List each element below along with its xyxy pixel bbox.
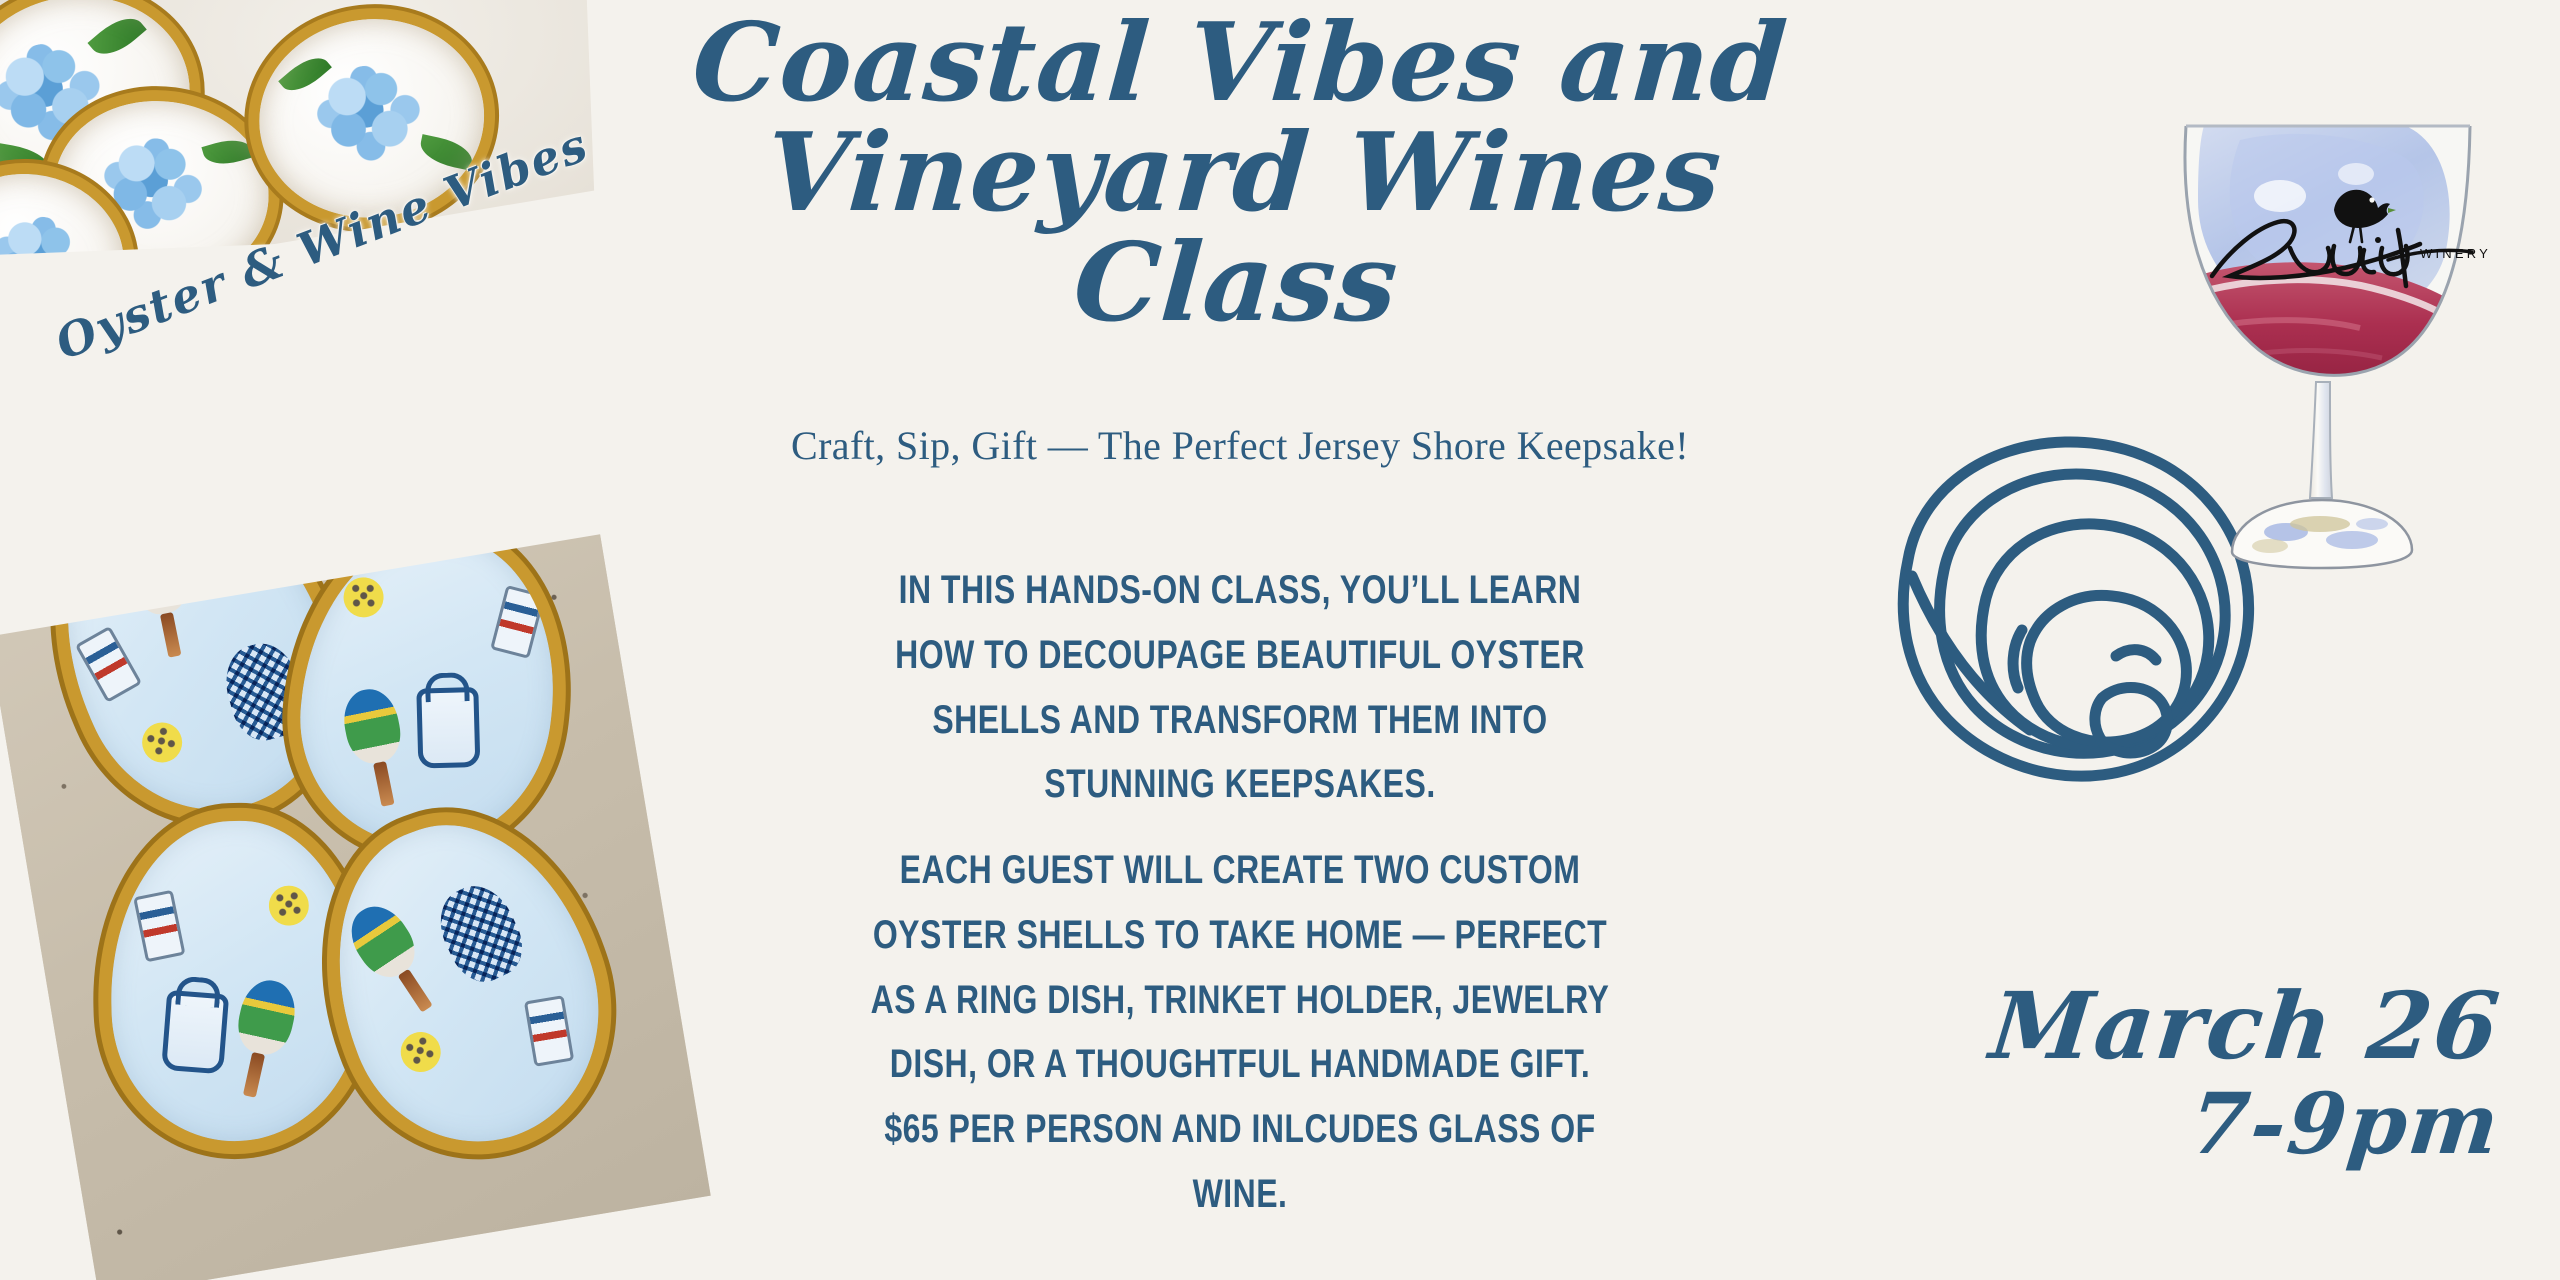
tagline: Craft, Sip, Gift — The Perfect Jersey Sh… (640, 422, 1840, 469)
title-line-2: Vineyard Wines Class (632, 118, 1847, 338)
event-date-block: March 26 7-9pm (1900, 980, 2500, 1168)
wine-glass-icon: WINERY (2120, 100, 2540, 570)
page-title: Coastal Vibes and Vineyard Wines Class (640, 8, 1840, 338)
center-text-column: Coastal Vibes and Vineyard Wines Class C… (640, 0, 1840, 1280)
description-paragraph-2: Each guest will create two custom oyster… (864, 838, 1616, 1227)
title-line-1: Coastal Vibes and (636, 8, 1844, 118)
svg-text:WINERY: WINERY (2420, 246, 2491, 261)
event-flyer: Oyster & Wine Vibes Coastal Vibes and Vi… (0, 0, 2560, 1280)
event-date: March 26 (1895, 980, 2505, 1072)
description-paragraph-1: In this hands-on class, you’ll learn how… (864, 558, 1616, 817)
event-time: 7-9pm (1895, 1080, 2504, 1168)
